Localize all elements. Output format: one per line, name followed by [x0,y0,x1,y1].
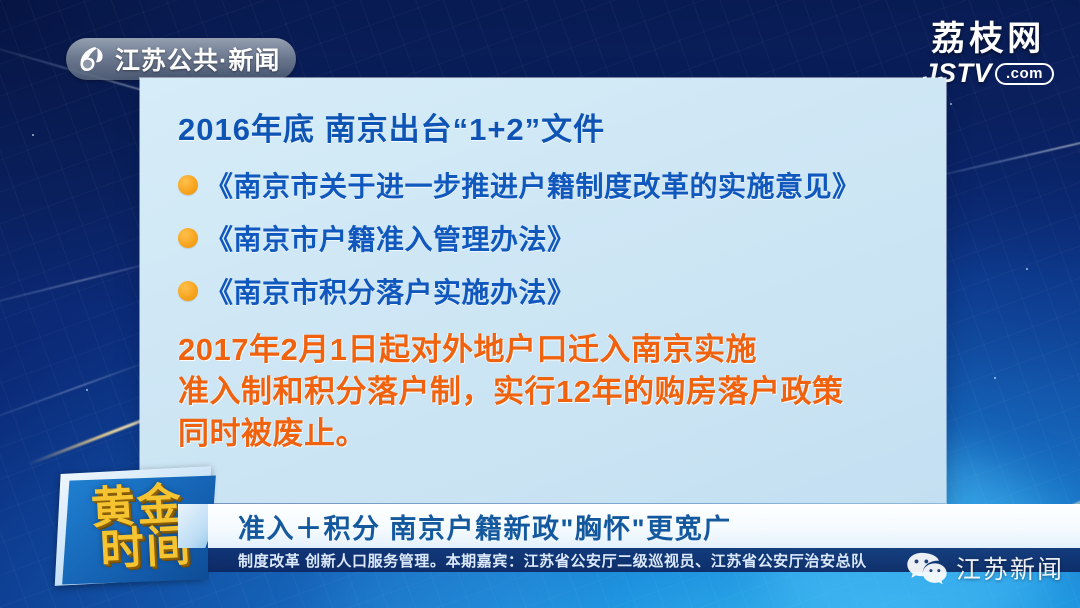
policy-document-list: 《南京市关于进一步推进户籍制度改革的实施意见》 《南京市户籍准入管理办法》 《南… [178,165,926,311]
network-logo-cn: 荔枝网 [922,22,1054,56]
background-speck [994,377,996,379]
list-item-label: 《南京市关于进一步推进户籍制度改革的实施意见》 [205,165,861,205]
lower-third-title: 准入＋积分 南京户籍新政"胸怀"更宽广 [238,507,732,546]
list-item-label: 《南京市积分落户实施办法》 [205,271,576,311]
station-name: 江苏公共·新闻 [115,41,280,77]
content-panel-inner: 2016年底 南京出台“1+2”文件 《南京市关于进一步推进户籍制度改革的实施意… [178,104,926,455]
bullet-dot-icon [178,228,198,248]
broadcast-screen: 江苏公共·新闻 荔枝网 JSTV .com 2016年底 南京出台“1+2”文件… [0,0,1080,608]
bullet-dot-icon [178,281,198,301]
paragraph-line: 同时被废止。 [178,413,926,455]
list-item-label: 《南京市户籍准入管理办法》 [205,218,576,258]
station-bug: 江苏公共·新闻 [66,38,296,80]
paragraph-line: 2017年2月1日起对外地户口迁入南京实施 [178,329,926,371]
ticker-text: 制度改革 创新人口服务管理。本期嘉宾：江苏省公安厅二级巡视员、江苏省公安厅治安总… [238,550,867,571]
bullet-dot-icon [178,175,198,195]
policy-paragraph: 2017年2月1日起对外地户口迁入南京实施 准入制和积分落户制，实行12年的购房… [178,329,926,455]
wechat-watermark: 江苏新闻 [906,550,1064,586]
background-speck [1026,268,1028,270]
wechat-watermark-label: 江苏新闻 [956,550,1064,586]
network-logo-tld: .com [995,63,1054,85]
jiangsu-tv-droplet-logo-icon [74,43,106,75]
wechat-icon [906,550,948,586]
content-panel: 2016年底 南京出台“1+2”文件 《南京市关于进一步推进户籍制度改革的实施意… [140,78,946,503]
panel-headline: 2016年底 南京出台“1+2”文件 [178,104,926,149]
list-item: 《南京市关于进一步推进户籍制度改革的实施意见》 [178,165,926,205]
list-item: 《南京市积分落户实施办法》 [178,271,926,311]
lower-third-title-bar: 准入＋积分 南京户籍新政"胸怀"更宽广 [208,504,1080,548]
list-item: 《南京市户籍准入管理办法》 [178,218,926,258]
paragraph-line: 准入制和积分落户制，实行12年的购房落户政策 [178,371,926,413]
